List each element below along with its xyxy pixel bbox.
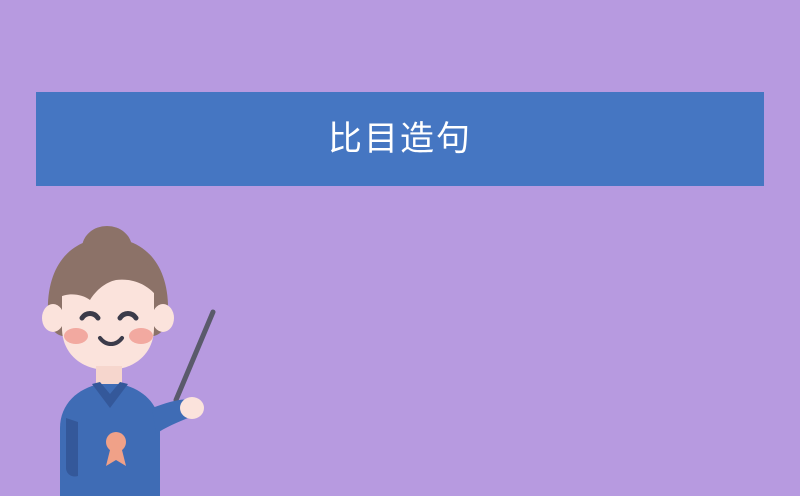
title-banner: 比目造句 — [36, 92, 764, 186]
page-title: 比目造句 — [328, 122, 472, 156]
teacher-with-pointer-illustration — [20, 222, 250, 496]
pointer-stick-icon — [176, 312, 213, 400]
page-canvas: 比目造句 — [0, 0, 800, 496]
